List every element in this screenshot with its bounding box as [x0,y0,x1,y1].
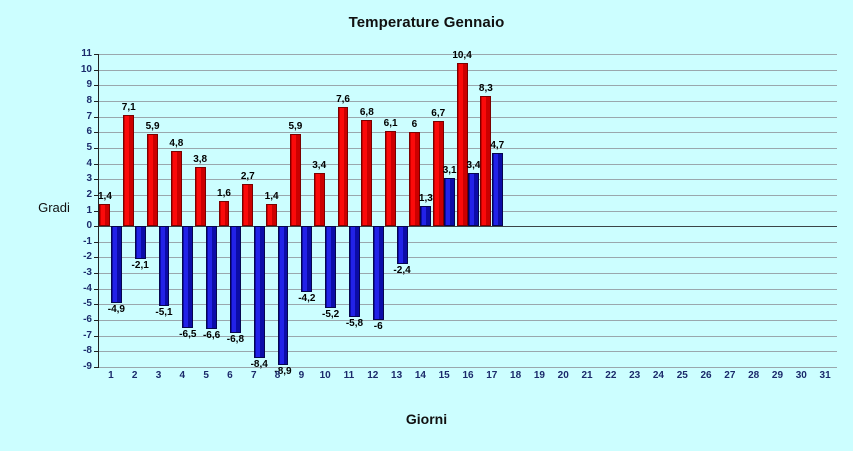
y-axis-tick-label: -9 [66,361,92,372]
x-axis-tick-label: 7 [242,370,266,381]
bar-max [290,134,301,226]
bar-highlight [268,205,272,225]
y-axis-tick [94,320,99,321]
bar-highlight [387,132,391,225]
x-axis-tick-label: 2 [123,370,147,381]
data-label: 5,9 [133,121,173,132]
x-axis-tick-label: 20 [551,370,575,381]
bar-highlight [197,168,201,225]
bar-min [468,173,479,226]
y-axis-tick-label: -3 [66,267,92,278]
bar-highlight [340,108,344,225]
bar-highlight [244,185,248,225]
gridline [99,351,837,352]
y-axis-tick-label: 3 [66,173,92,184]
bar-min [397,226,408,264]
bar-min [325,226,336,307]
y-axis-tick [94,148,99,149]
y-axis-tick [94,117,99,118]
y-axis-tick-label: 7 [66,111,92,122]
y-axis-tick [94,242,99,243]
data-label: 4,8 [156,138,196,149]
x-axis-tick-label: 21 [575,370,599,381]
chart-title: Temperature Gennaio [0,14,853,31]
y-axis-tick [94,273,99,274]
x-axis-tick-label: 12 [361,370,385,381]
bar-highlight [184,227,188,327]
bar-highlight [446,179,450,226]
plot-area: 1,4-4,97,1-2,15,9-5,14,8-6,53,8-6,61,6-6… [99,54,837,367]
x-axis-tick-label: 9 [289,370,313,381]
gridline [99,132,837,133]
bar-highlight [411,133,415,225]
bar-max [361,120,372,226]
data-label: -2,4 [382,265,422,276]
bar-highlight [482,97,486,225]
x-axis-tick-label: 10 [313,370,337,381]
x-axis-tick-label: 6 [218,370,242,381]
bar-max [242,184,253,226]
bar-max [99,204,110,226]
y-axis-tick-label: 10 [66,64,92,75]
x-axis-tick-label: 18 [504,370,528,381]
bar-min [492,153,503,227]
x-axis-tick-label: 14 [408,370,432,381]
y-axis-tick [94,367,99,368]
bar-min [349,226,360,317]
bar-highlight [316,174,320,225]
x-axis-tick-label: 22 [599,370,623,381]
x-axis-tick-label: 30 [789,370,813,381]
x-axis-tick-label: 8 [266,370,290,381]
bar-highlight [459,64,463,225]
bar-highlight [292,135,296,225]
data-label: 1,4 [252,191,292,202]
data-label: 3,4 [299,160,339,171]
x-axis-tick-label: 23 [623,370,647,381]
y-axis-tick [94,54,99,55]
bar-max [338,107,349,226]
y-axis-tick [94,132,99,133]
bar-highlight [363,121,367,225]
y-axis-tick-label: 1 [66,205,92,216]
bar-max [219,201,230,226]
bar-highlight [221,202,225,225]
x-axis-tick-label: 26 [694,370,718,381]
bar-max [385,131,396,226]
y-axis-tick [94,85,99,86]
data-label: 2,7 [228,171,268,182]
bar-min [159,226,170,306]
x-axis-tick-label: 1 [99,370,123,381]
bar-min [444,178,455,227]
x-axis-tick-label: 11 [337,370,361,381]
bar-highlight [399,227,403,263]
bar-min [230,226,241,332]
y-axis-tick [94,70,99,71]
bar-highlight [494,154,498,226]
bar-min [254,226,265,357]
bar-highlight [280,227,284,364]
x-axis-tick-label: 15 [432,370,456,381]
x-axis-tick-label: 13 [385,370,409,381]
y-axis-tick [94,351,99,352]
bar-highlight [470,174,474,225]
gridline [99,367,837,368]
bar-highlight [351,227,355,316]
y-axis-tick-label: 8 [66,95,92,106]
data-label: 7,6 [323,94,363,105]
data-label: 8,3 [466,83,506,94]
bar-highlight [137,227,141,258]
y-axis-tick [94,179,99,180]
bar-min [206,226,217,329]
data-label: 1,4 [85,191,125,202]
y-axis-tick-label: 9 [66,79,92,90]
x-axis-title: Giorni [0,411,853,427]
bar-highlight [422,207,426,225]
y-axis-tick [94,289,99,290]
bar-min [182,226,193,328]
x-axis-tick-label: 16 [456,370,480,381]
data-label: 1,6 [204,188,244,199]
x-axis-tick-label: 4 [170,370,194,381]
bar-max [314,173,325,226]
bar-highlight [173,152,177,225]
y-axis-tick-label: -7 [66,330,92,341]
gridline [99,117,837,118]
y-axis-tick-label: 6 [66,126,92,137]
bar-max [480,96,491,226]
gridline [99,148,837,149]
bar-highlight [125,116,129,225]
x-axis-tick-label: 5 [194,370,218,381]
y-axis-tick [94,257,99,258]
y-axis-tick-label: 11 [66,48,92,59]
y-axis-tick [94,304,99,305]
bar-highlight [232,227,236,331]
data-label: -4,9 [96,304,136,315]
data-label: -4,2 [287,293,327,304]
bar-min [135,226,146,259]
y-axis-tick [94,101,99,102]
gridline [99,70,837,71]
x-axis-tick-label: 17 [480,370,504,381]
y-axis-tick [94,336,99,337]
data-label: -6 [358,321,398,332]
y-axis-tick-label: -1 [66,236,92,247]
bar-max [266,204,277,226]
bar-highlight [256,227,260,356]
y-axis-tick-label: -6 [66,314,92,325]
x-axis-tick-label: 25 [670,370,694,381]
y-axis-tick-label: -5 [66,298,92,309]
bar-highlight [375,227,379,319]
x-axis-tick-label: 29 [765,370,789,381]
x-axis-tick-label: 19 [527,370,551,381]
y-axis-tick [94,226,99,227]
data-label: 4,7 [477,140,517,151]
x-axis-tick-label: 27 [718,370,742,381]
gridline [99,101,837,102]
data-label: -2,1 [120,260,160,271]
x-axis-tick-label: 28 [742,370,766,381]
data-label: 10,4 [442,50,482,61]
bar-min [301,226,312,292]
data-label: -5,1 [144,307,184,318]
bar-highlight [161,227,165,305]
y-axis-tick-label: 5 [66,142,92,153]
data-label: 6,8 [347,107,387,118]
y-axis-tick [94,211,99,212]
data-label: -6,8 [215,334,255,345]
y-axis-tick [94,164,99,165]
bar-highlight [113,227,117,302]
bar-highlight [208,227,212,328]
data-label: 7,1 [109,102,149,113]
data-label: 6 [394,119,434,130]
x-axis-tick-label: 31 [813,370,837,381]
y-axis-tick-label: 4 [66,158,92,169]
y-axis-tick-label: 0 [66,220,92,231]
bar-highlight [303,227,307,291]
bar-highlight [149,135,153,225]
y-axis-tick-label: -8 [66,345,92,356]
y-axis-tick-label: -2 [66,251,92,262]
x-axis-tick-label: 24 [646,370,670,381]
bar-min [420,206,431,226]
data-label: 5,9 [275,121,315,132]
bar-max [409,132,420,226]
y-axis-tick-labels: 11109876543210-1-2-3-4-5-6-7-8-9 [62,54,92,367]
bar-highlight [327,227,331,306]
data-label: 3,8 [180,154,220,165]
data-label: 6,7 [418,108,458,119]
y-axis-tick [94,195,99,196]
x-axis-tick-label: 3 [147,370,171,381]
bar-highlight [101,205,105,225]
y-axis-tick-label: -4 [66,283,92,294]
